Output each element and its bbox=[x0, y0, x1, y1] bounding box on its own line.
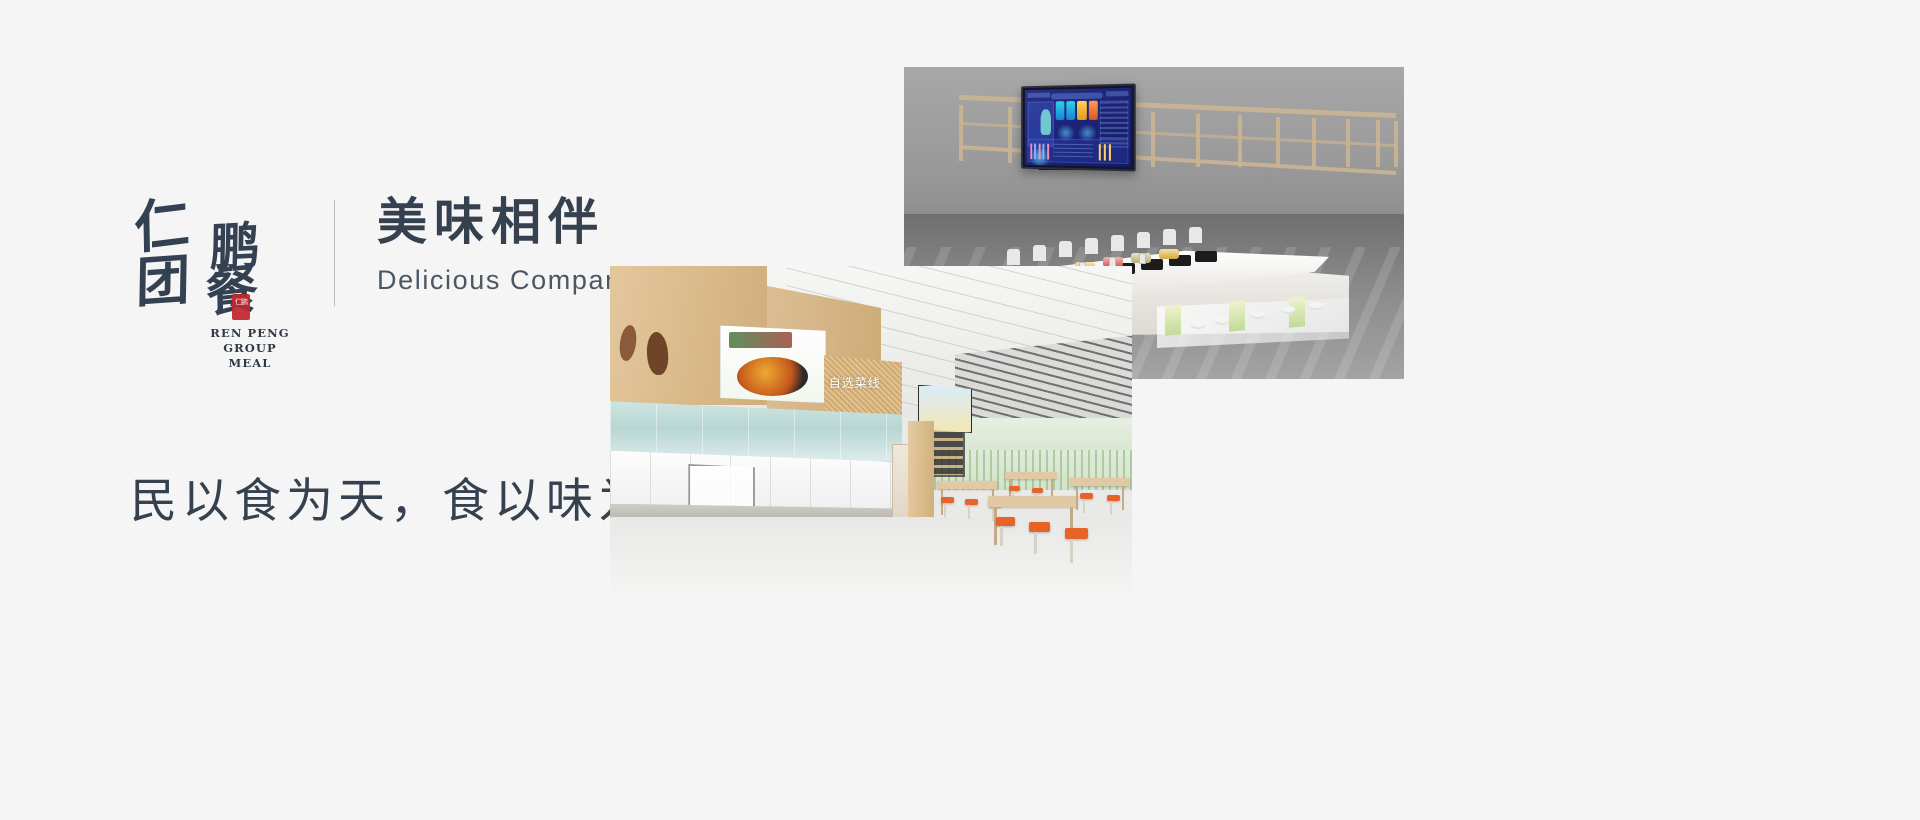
company-logo: 仁 鹏 团 餐 仁鹏 REN PENG GROUP MEAL bbox=[128, 192, 296, 332]
logo-char-3: 团 bbox=[136, 252, 189, 310]
pergola-post bbox=[1238, 115, 1242, 167]
dashboard-screen bbox=[1021, 84, 1136, 172]
logo-english-text: REN PENG GROUP MEAL bbox=[204, 326, 296, 371]
dashboard-avatar bbox=[1040, 109, 1051, 134]
dining-table bbox=[937, 481, 997, 489]
chair-leg bbox=[1070, 539, 1073, 563]
vertical-divider bbox=[334, 200, 335, 306]
dining-chair bbox=[1009, 486, 1020, 491]
stacked-plates bbox=[1251, 311, 1265, 317]
chair-leg bbox=[1034, 532, 1037, 554]
chair-leg bbox=[1110, 501, 1112, 515]
poster-dish-photo bbox=[737, 357, 808, 396]
table-leg bbox=[1076, 486, 1078, 510]
pergola-post bbox=[1376, 120, 1380, 167]
dashboard-card bbox=[1066, 101, 1075, 120]
logo-en-line-1: REN PENG bbox=[204, 326, 296, 341]
photo-floor bbox=[610, 517, 1132, 596]
food-portion bbox=[1159, 249, 1179, 259]
stacked-plates bbox=[1309, 302, 1323, 308]
dining-chair bbox=[1032, 488, 1043, 493]
dining-table bbox=[1005, 472, 1057, 479]
dining-chair bbox=[1107, 495, 1120, 501]
pergola-post bbox=[1312, 118, 1316, 167]
price-label bbox=[1139, 253, 1146, 264]
dashboard-title-bar bbox=[1051, 92, 1102, 99]
dashboard-card bbox=[1055, 101, 1064, 120]
counter-light-panel bbox=[1165, 304, 1181, 335]
sneeze-guard bbox=[1111, 235, 1124, 251]
counter-signage-text: 自选菜线 bbox=[829, 374, 881, 391]
food-tray bbox=[1195, 251, 1217, 262]
menu-poster bbox=[720, 325, 826, 403]
dashboard-card bbox=[1089, 101, 1098, 121]
dining-chair bbox=[1080, 493, 1093, 499]
dashboard-bottom-panel bbox=[1028, 139, 1129, 164]
dashboard-bar-chart bbox=[1030, 144, 1051, 160]
table-leg bbox=[994, 507, 997, 545]
counter-light-panel bbox=[1229, 300, 1245, 331]
canteen-interior-photo: 自选菜线 bbox=[610, 266, 1132, 596]
logo-en-line-3: MEAL bbox=[204, 356, 296, 371]
pergola-post bbox=[1394, 121, 1398, 167]
sneeze-guard bbox=[1059, 241, 1072, 257]
dashboard-top-left-chip bbox=[1028, 93, 1050, 98]
dining-table bbox=[988, 496, 1078, 507]
pergola-post bbox=[959, 105, 963, 161]
dashboard-data-table bbox=[1053, 144, 1092, 161]
pergola-post bbox=[1008, 107, 1012, 163]
pergola-post bbox=[1276, 117, 1280, 167]
chair-leg bbox=[944, 503, 946, 517]
stacked-plates bbox=[1281, 306, 1295, 312]
sneeze-guard bbox=[1189, 227, 1202, 243]
counter-light-panel bbox=[1289, 296, 1305, 327]
wooden-pergola-frame bbox=[946, 94, 1396, 194]
logo-en-line-2: GROUP bbox=[204, 341, 296, 356]
hero-banner: 仁 鹏 团 餐 仁鹏 REN PENG GROUP MEAL 美味相伴 Deli… bbox=[0, 0, 1920, 820]
dining-chair bbox=[996, 517, 1015, 526]
chair-leg bbox=[1000, 526, 1003, 546]
dashboard-card bbox=[1077, 101, 1086, 121]
sneeze-guard bbox=[1033, 245, 1046, 261]
sneeze-guard bbox=[1007, 249, 1020, 265]
stacked-plates bbox=[1215, 317, 1229, 323]
dining-table bbox=[1070, 478, 1130, 486]
pergola-post bbox=[1346, 119, 1350, 167]
dashboard-top-right-chip bbox=[1106, 91, 1128, 97]
headline: 美味相伴 bbox=[377, 196, 718, 249]
poster-wordmark bbox=[729, 332, 792, 349]
stacked-plates bbox=[1191, 321, 1205, 327]
dashboard-screen-content bbox=[1025, 88, 1132, 168]
red-seal-stamp-icon: 仁鹏 bbox=[232, 294, 250, 320]
dashboard-bar-chart bbox=[1099, 144, 1113, 160]
dining-chair bbox=[1065, 528, 1088, 539]
chair-leg bbox=[1083, 499, 1085, 513]
chair-leg bbox=[968, 505, 970, 519]
logo-calligraphy: 仁 鹏 团 餐 bbox=[128, 192, 296, 310]
sneeze-guard bbox=[1085, 238, 1098, 254]
dining-chair bbox=[1029, 522, 1050, 532]
pergola-post bbox=[1151, 112, 1155, 167]
dining-chair bbox=[941, 497, 954, 503]
sneeze-guard bbox=[1137, 232, 1150, 248]
sneeze-guard bbox=[1163, 229, 1176, 245]
table-leg bbox=[1122, 486, 1124, 510]
dining-chair bbox=[965, 499, 978, 505]
pergola-post bbox=[1196, 114, 1200, 167]
